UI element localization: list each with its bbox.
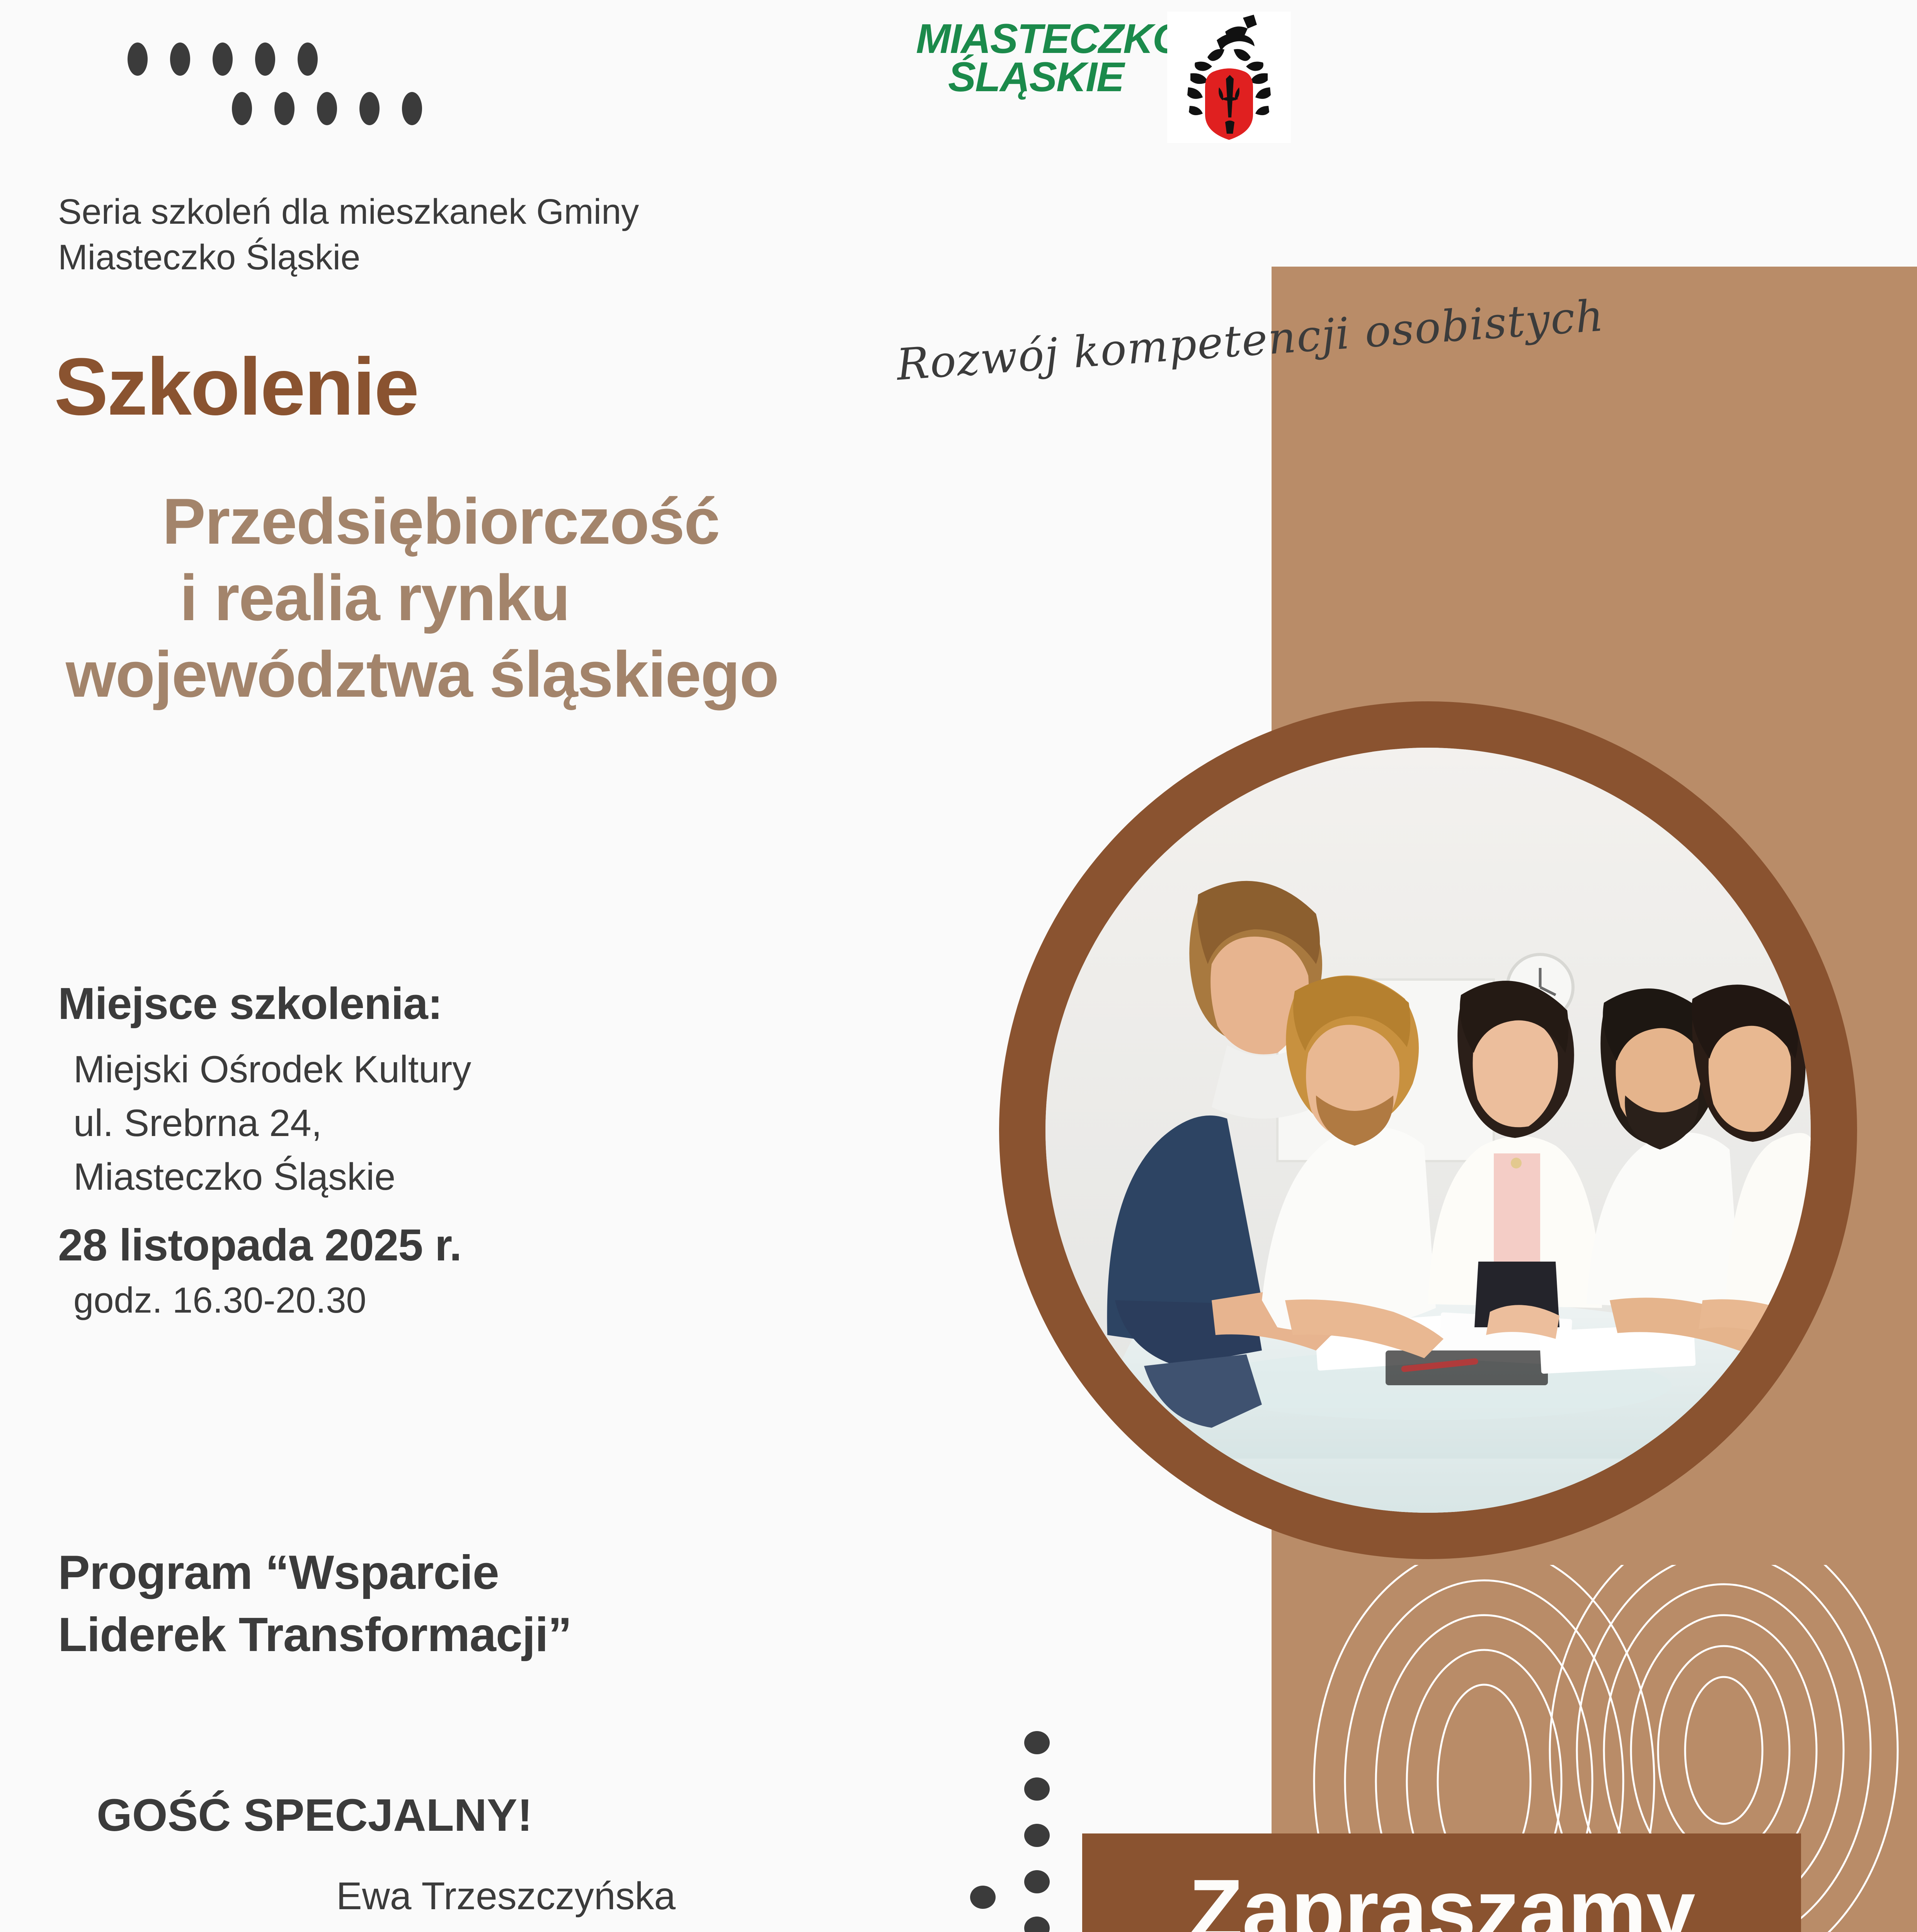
- venue-line-3: Miasteczko Śląskie: [73, 1150, 966, 1204]
- municipality-logo: MIASTECZKO ŚLĄSKIE: [916, 12, 1291, 143]
- title-kicker: Szkolenie: [54, 340, 418, 434]
- poster-root: MIASTECZKO ŚLĄSKIE: [0, 0, 1917, 1932]
- program-line-2: Liderek Transformacji”: [58, 1604, 986, 1666]
- dot-pattern-top-left: [128, 43, 514, 143]
- program-name: Program “Wsparcie Liderek Transformacji”: [58, 1542, 986, 1666]
- event-hours: godz. 16.30-20.30: [73, 1279, 966, 1321]
- photo-ring: [999, 701, 1857, 1559]
- program-line-1: Program “Wsparcie: [58, 1542, 986, 1604]
- intro-text: Seria szkoleń dla mieszkanek Gminy Miast…: [58, 189, 1063, 281]
- intro-line-1: Seria szkoleń dla mieszkanek Gminy: [58, 189, 1063, 235]
- municipality-logo-wordmark: MIASTECZKO ŚLĄSKIE: [916, 19, 1156, 96]
- coat-of-arms-icon: [1167, 12, 1291, 143]
- logo-line2-text: ŚLĄSKIE: [948, 53, 1124, 100]
- venue-line-1: Miejski Ośrodek Kultury: [73, 1043, 966, 1096]
- place-heading: Miejsce szkolenia:: [58, 978, 966, 1029]
- venue-line-2: ul. Srebrna 24,: [73, 1096, 966, 1150]
- invite-badge: Zapraszamy: [1082, 1833, 1801, 1932]
- team-meeting-photo: [1045, 748, 1811, 1513]
- special-guest-heading: GOŚĆ SPECJALNY!: [97, 1789, 533, 1842]
- invite-badge-label: Zapraszamy: [1082, 1833, 1801, 1932]
- title-main: Przedsiębiorczość i realia rynku wojewód…: [162, 483, 1206, 713]
- venue-address: Miejski Ośrodek Kultury ul. Srebrna 24, …: [73, 1043, 966, 1204]
- title-line-2: i realia rynku: [180, 560, 1206, 636]
- special-guest-name: Ewa Trzeszczyńska: [336, 1874, 676, 1918]
- title-line-1: Przedsiębiorczość: [162, 485, 719, 558]
- event-date: 28 listopada 2025 r.: [58, 1219, 966, 1271]
- intro-line-2: Miasteczko Śląskie: [58, 235, 1063, 281]
- training-details: Miejsce szkolenia: Miejski Ośrodek Kultu…: [58, 978, 966, 1321]
- title-line-3: województwa śląskiego: [66, 636, 1206, 713]
